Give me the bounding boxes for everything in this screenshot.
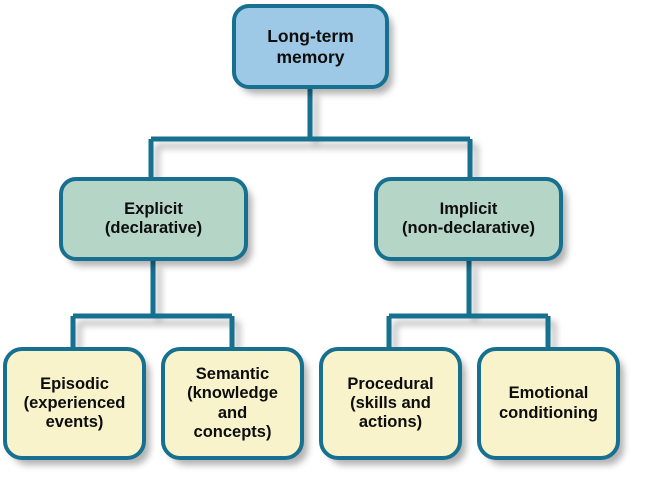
node-implicit[interactable]: Implicit (non-declarative) (374, 177, 563, 261)
node-semantic-label: Semantic (knowledge and concepts) (181, 365, 284, 442)
node-procedural-label: Procedural (skills and actions) (341, 375, 439, 432)
node-semantic[interactable]: Semantic (knowledge and concepts) (161, 347, 304, 460)
edge-root-to-level2 (151, 89, 470, 180)
long-term-memory-diagram: Long-term memory Explicit (declarative) … (0, 0, 649, 492)
node-long-term-memory[interactable]: Long-term memory (232, 4, 389, 89)
node-implicit-label: Implicit (non-declarative) (396, 200, 541, 238)
edge-implicit-to-leaves (389, 261, 548, 350)
node-emotional-conditioning-label: Emotional conditioning (493, 384, 604, 422)
node-explicit-label: Explicit (declarative) (99, 200, 208, 238)
node-emotional-conditioning[interactable]: Emotional conditioning (477, 347, 620, 460)
node-procedural[interactable]: Procedural (skills and actions) (319, 347, 462, 460)
edge-explicit-to-leaves (73, 261, 232, 350)
node-episodic[interactable]: Episodic (experienced events) (3, 347, 146, 460)
node-episodic-label: Episodic (experienced events) (18, 375, 132, 432)
node-long-term-memory-label: Long-term memory (261, 26, 360, 67)
node-explicit[interactable]: Explicit (declarative) (59, 177, 248, 261)
